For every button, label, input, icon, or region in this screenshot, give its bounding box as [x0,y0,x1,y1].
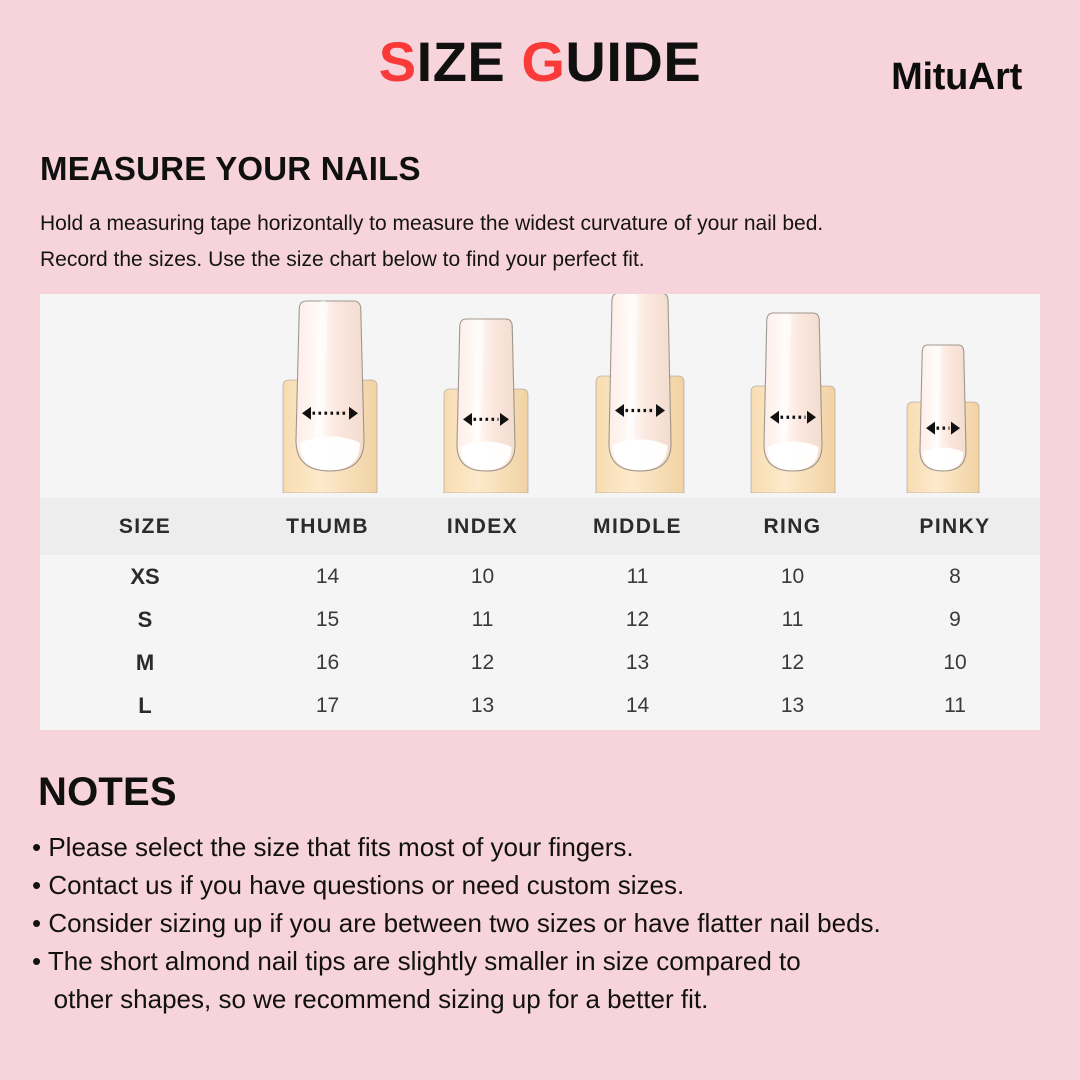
index-nail-diagram [432,294,540,493]
page-title-part-3: UIDE [565,30,701,93]
table-row: M1612131210 [40,641,1040,684]
cell-size: S [40,598,250,641]
column-header-index: INDEX [405,498,560,555]
note-item: • Contact us if you have questions or ne… [32,866,1062,904]
cell-size: L [40,684,250,727]
page-header: SIZE GUIDE MituArt [0,0,1080,130]
column-header-size: SIZE [40,498,250,555]
thumb-nail-diagram [271,294,389,493]
cell-middle: 14 [560,684,715,727]
note-item: • The short almond nail tips are slightl… [32,942,1062,980]
nail-diagram-row [40,294,1040,493]
cell-index: 12 [405,641,560,684]
cell-index: 10 [405,555,560,598]
cell-pinky: 10 [870,641,1040,684]
cell-index: 13 [405,684,560,727]
cell-middle: 11 [560,555,715,598]
measure-description-line-1: Hold a measuring tape horizontally to me… [40,206,1040,242]
note-item: • Please select the size that fits most … [32,828,1062,866]
size-chart-table: SIZE THUMB INDEX MIDDLE RING PINKY XS141… [40,493,1040,727]
cell-ring: 11 [715,598,870,641]
note-item: • Consider sizing up if you are between … [32,904,1062,942]
cell-pinky: 11 [870,684,1040,727]
brand-logo: MituArt [891,56,1022,99]
middle-nail-diagram [584,294,696,493]
cell-middle: 12 [560,598,715,641]
measure-section-description: Hold a measuring tape horizontally to me… [40,206,1040,278]
cell-thumb: 16 [250,641,405,684]
page-title-part-0: S [379,30,417,93]
cell-ring: 10 [715,555,870,598]
table-header-row: SIZE THUMB INDEX MIDDLE RING PINKY [40,498,1040,555]
cell-middle: 13 [560,641,715,684]
cell-thumb: 17 [250,684,405,727]
page-title-part-1: IZE [417,30,522,93]
measure-section-heading: MEASURE YOUR NAILS [40,150,421,188]
table-body: XS141011108S151112119M1612131210L1713141… [40,555,1040,727]
cell-pinky: 9 [870,598,1040,641]
notes-list: • Please select the size that fits most … [32,828,1062,1018]
cell-ring: 13 [715,684,870,727]
cell-size: M [40,641,250,684]
cell-thumb: 15 [250,598,405,641]
cell-size: XS [40,555,250,598]
ring-nail-diagram [739,294,847,493]
column-header-pinky: PINKY [870,498,1040,555]
cell-thumb: 14 [250,555,405,598]
column-header-ring: RING [715,498,870,555]
note-item: other shapes, so we recommend sizing up … [32,980,1062,1018]
column-header-thumb: THUMB [250,498,405,555]
cell-ring: 12 [715,641,870,684]
notes-heading: NOTES [38,770,177,815]
measure-description-line-2: Record the sizes. Use the size chart bel… [40,242,1040,278]
cell-index: 11 [405,598,560,641]
cell-pinky: 8 [870,555,1040,598]
table-row: S151112119 [40,598,1040,641]
page-title-part-2: G [521,30,565,93]
table-row: XS141011108 [40,555,1040,598]
table-row: L1713141311 [40,684,1040,727]
column-header-middle: MIDDLE [560,498,715,555]
size-chart-panel: SIZE THUMB INDEX MIDDLE RING PINKY XS141… [40,294,1040,730]
pinky-nail-diagram [895,294,991,493]
